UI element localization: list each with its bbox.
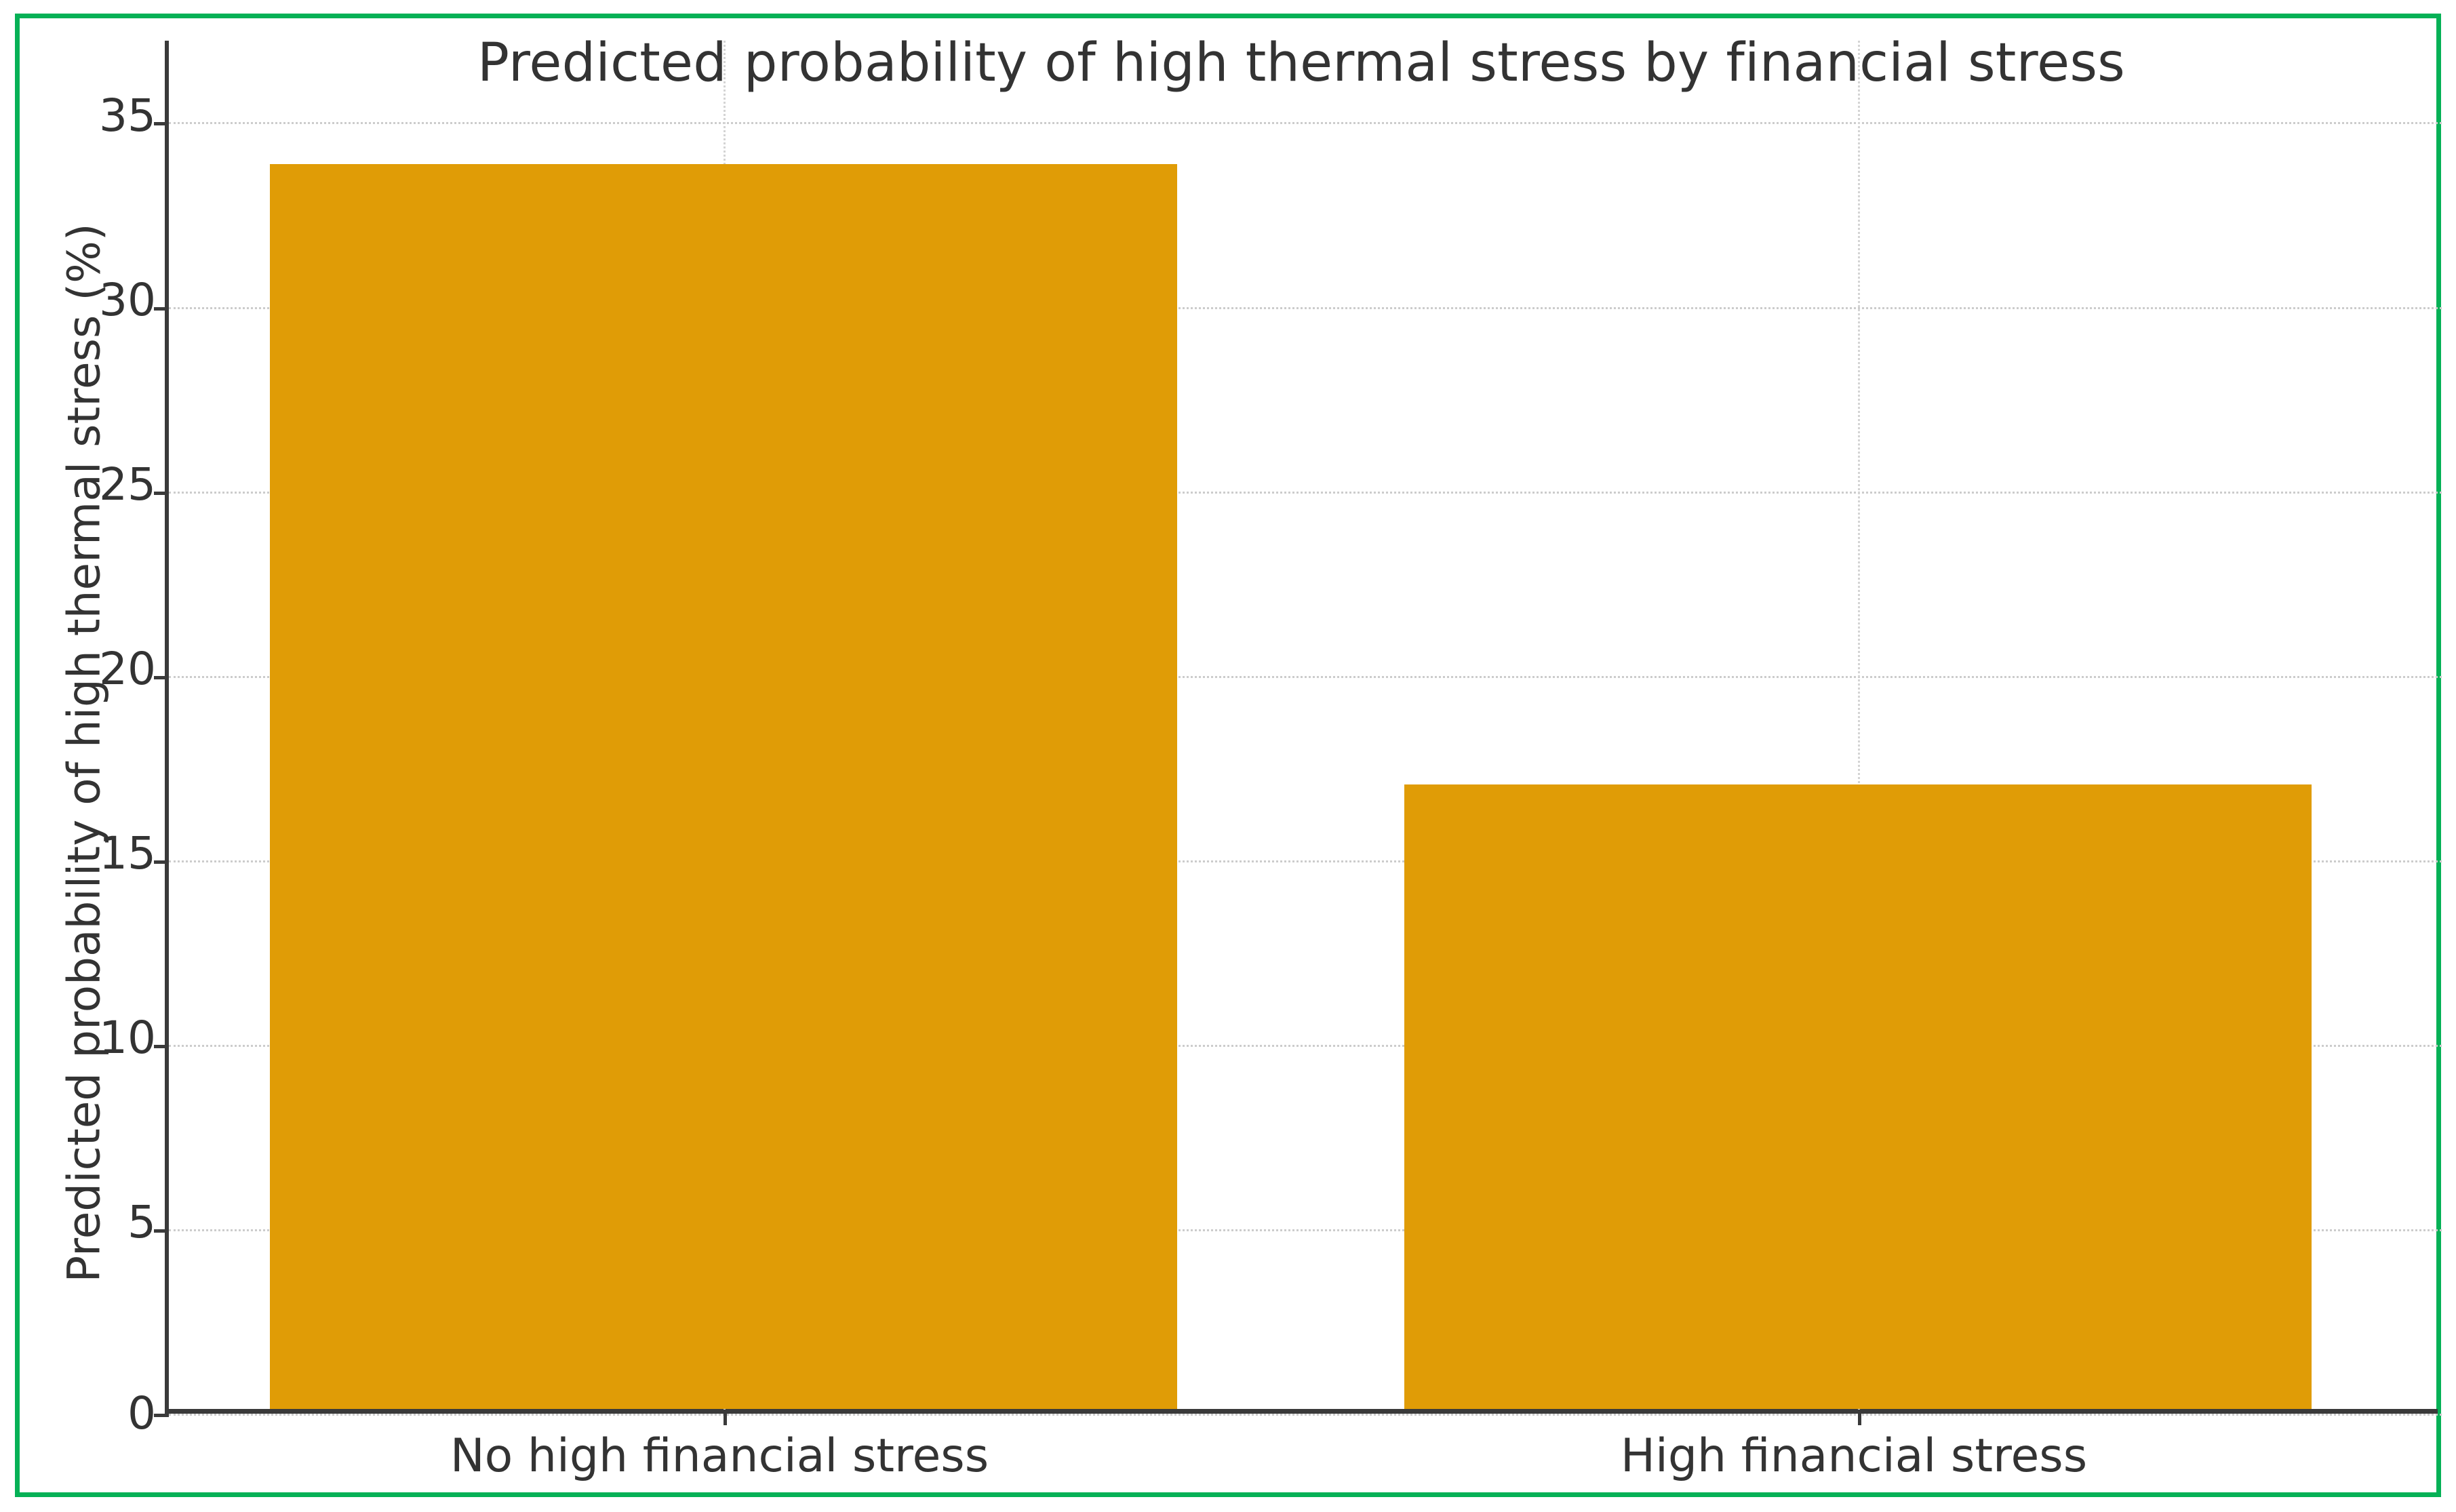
y-tick-mark-10 bbox=[154, 1045, 169, 1048]
y-tick-mark-25 bbox=[154, 492, 169, 495]
y-tick-label-30: 30 bbox=[47, 278, 156, 323]
bar-high-financial-stress[interactable] bbox=[1404, 784, 2312, 1409]
y-axis-label: Predicted probability of high thermal st… bbox=[58, 41, 111, 1465]
bar-no-high-financial-stress[interactable] bbox=[270, 164, 1177, 1409]
y-axis-label-container: Predicted probability of high thermal st… bbox=[61, 0, 107, 1512]
x-tick-mark-category-0 bbox=[724, 1410, 727, 1425]
bar-chart-figure: Predicted probability of high thermal st… bbox=[0, 0, 2456, 1512]
y-tick-label-0: 0 bbox=[47, 1391, 156, 1436]
gridline-y-0 bbox=[169, 1414, 2442, 1416]
y-tick-mark-20 bbox=[154, 676, 169, 679]
x-tick-mark-category-1 bbox=[1858, 1410, 1861, 1425]
y-tick-label-20: 20 bbox=[47, 647, 156, 692]
y-tick-label-5: 5 bbox=[47, 1200, 156, 1245]
y-tick-mark-30 bbox=[154, 307, 169, 311]
y-tick-label-15: 15 bbox=[47, 831, 156, 876]
y-tick-label-25: 25 bbox=[47, 462, 156, 507]
plot-area bbox=[165, 41, 2438, 1414]
y-tick-label-10: 10 bbox=[47, 1016, 156, 1060]
y-tick-mark-0 bbox=[154, 1414, 169, 1417]
screenshot-canvas: Predicted probability of high thermal st… bbox=[0, 0, 2456, 1512]
y-tick-mark-5 bbox=[154, 1229, 169, 1233]
x-tick-label-high-financial-stress: High financial stress bbox=[1379, 1429, 2329, 1483]
y-tick-mark-35 bbox=[154, 122, 169, 125]
x-tick-label-no-high-financial-stress: No high financial stress bbox=[245, 1429, 1194, 1483]
y-tick-mark-15 bbox=[154, 860, 169, 864]
y-tick-label-35: 35 bbox=[47, 94, 156, 138]
gridline-y-35 bbox=[169, 122, 2442, 124]
